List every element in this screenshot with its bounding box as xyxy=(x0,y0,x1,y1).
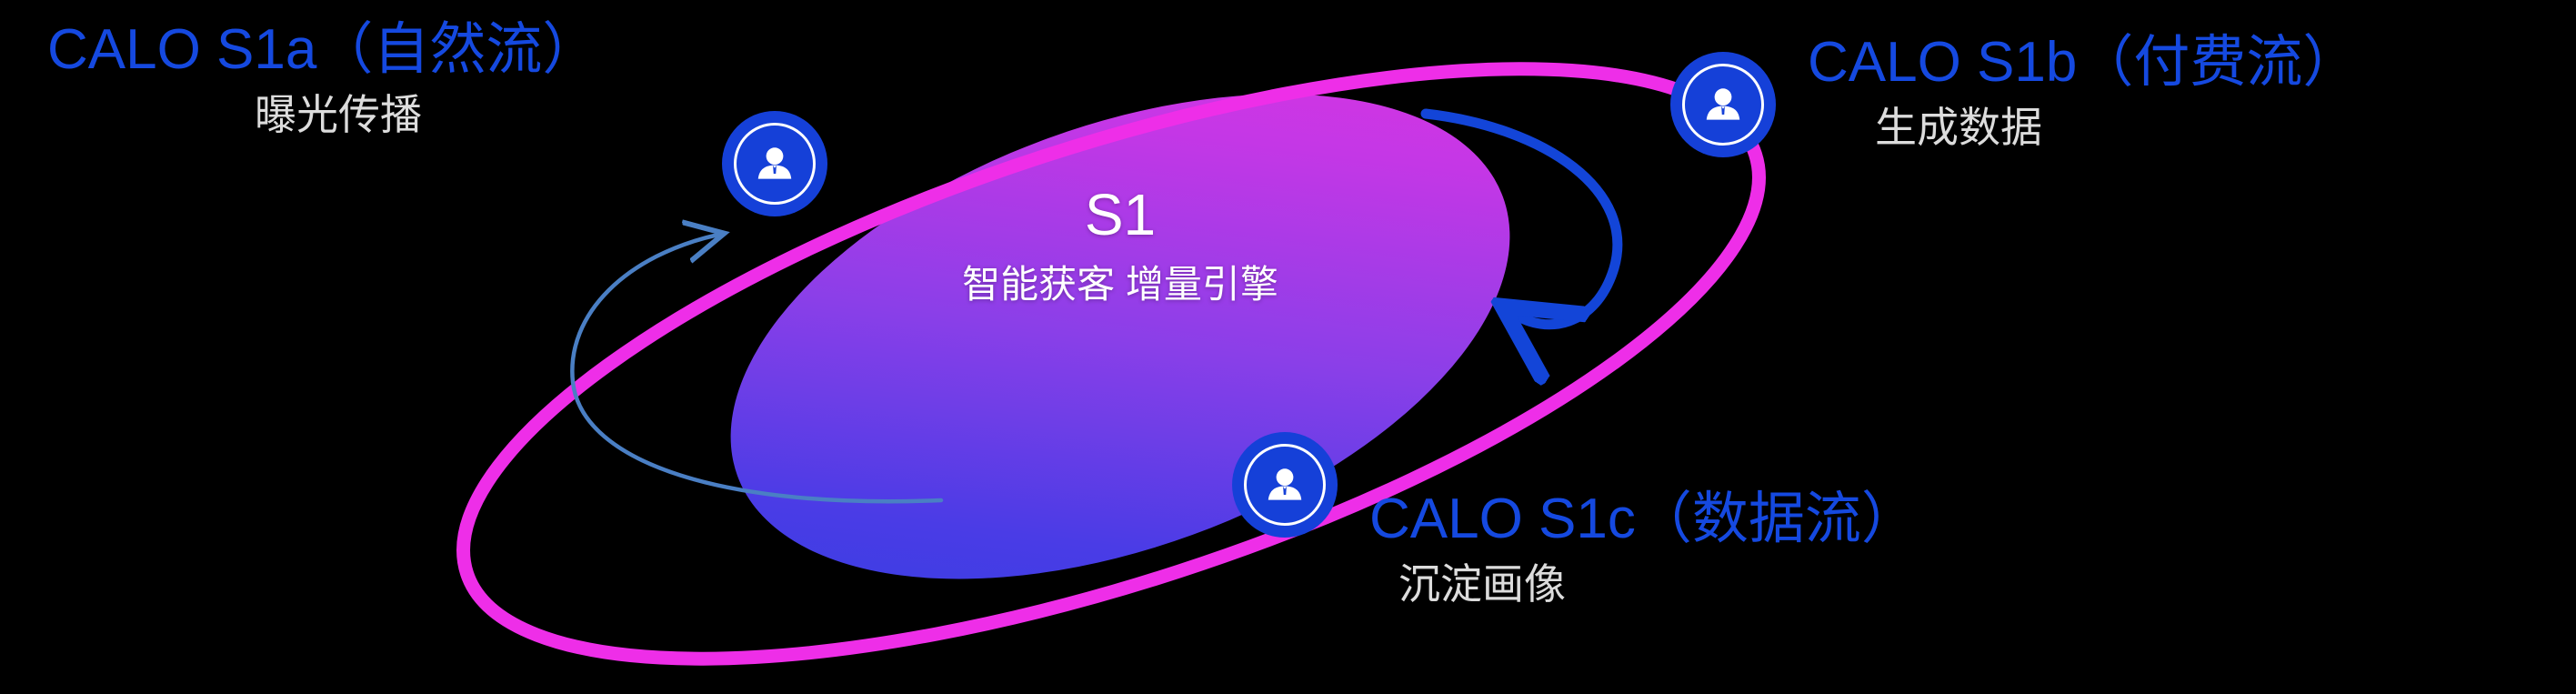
label-s1a-title: CALO S1a（自然流） xyxy=(47,20,598,79)
user-avatar-icon xyxy=(752,141,797,186)
label-s1b: CALO S1b（付费流） 生成数据 xyxy=(1808,33,2359,151)
node-s1a-ring xyxy=(734,123,816,205)
user-avatar-icon xyxy=(1700,82,1746,127)
user-avatar-icon xyxy=(1262,462,1308,508)
label-s1c: CALO S1c（数据流） 沉淀画像 xyxy=(1369,489,1918,608)
label-s1b-sub: 生成数据 xyxy=(1875,105,2359,151)
label-s1b-title: CALO S1b（付费流） xyxy=(1808,33,2359,92)
diagram-canvas: S1 智能获客 增量引擎 xyxy=(0,0,2576,694)
node-s1c-ring xyxy=(1244,444,1326,526)
node-s1b[interactable] xyxy=(1670,52,1776,157)
node-s1a[interactable] xyxy=(722,111,827,216)
label-s1a-sub: 曝光传播 xyxy=(255,92,598,138)
label-s1a: CALO S1a（自然流） 曝光传播 xyxy=(47,20,598,138)
label-s1c-title: CALO S1c（数据流） xyxy=(1369,489,1918,548)
node-s1b-ring xyxy=(1682,64,1764,146)
label-s1c-sub: 沉淀画像 xyxy=(1398,561,1918,608)
node-s1c[interactable] xyxy=(1232,432,1338,538)
